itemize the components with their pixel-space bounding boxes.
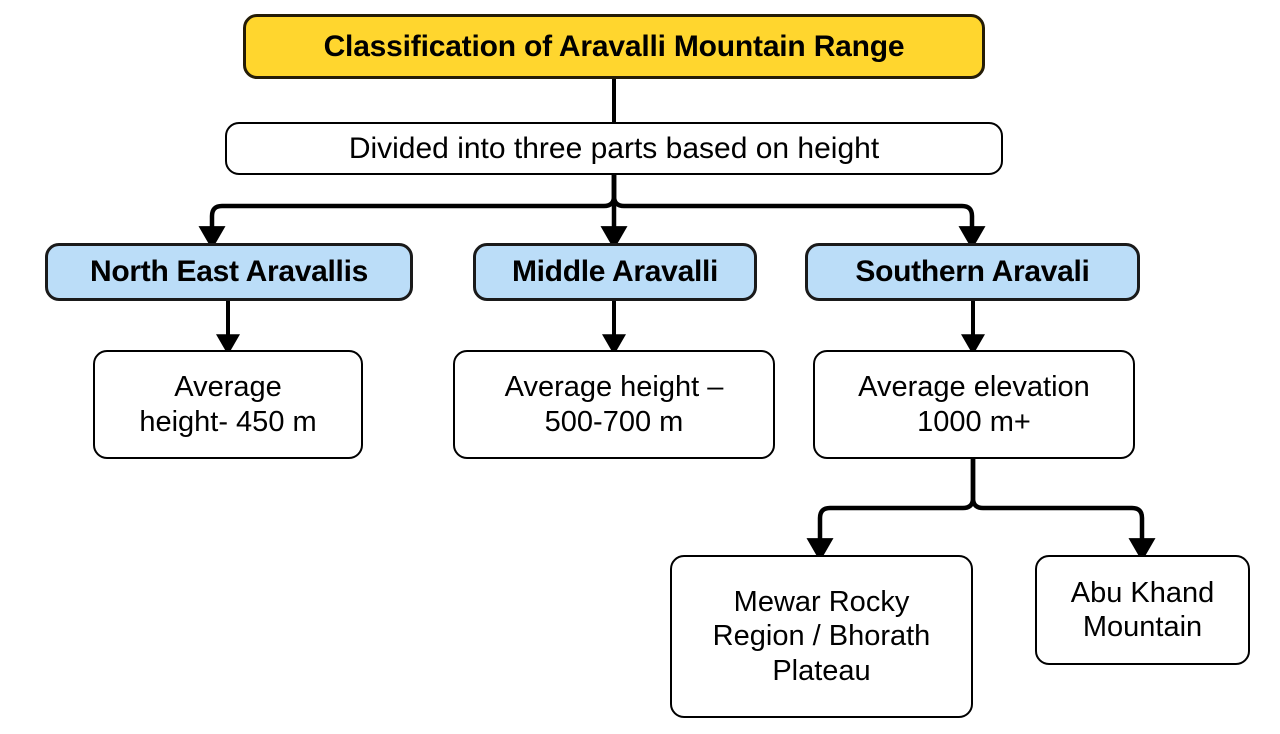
node-detail-north-east-aravallis-label: Average height- 450 m xyxy=(95,370,361,438)
node-detail-middle-aravalli-label: Average height – 500-700 m xyxy=(455,370,773,438)
node-category-middle-aravalli[interactable]: Middle Aravalli xyxy=(473,243,757,301)
node-category-north-east-aravallis[interactable]: North East Aravallis xyxy=(45,243,413,301)
edge-subtitle-to-southern xyxy=(614,174,972,236)
flowchart-canvas: Classification of Aravalli Mountain Rang… xyxy=(0,0,1280,734)
node-detail-southern-aravali-label: Average elevation 1000 m+ xyxy=(815,370,1133,438)
node-detail-north-east-aravallis[interactable]: Average height- 450 m xyxy=(93,350,363,459)
node-category-north-east-aravallis-label: North East Aravallis xyxy=(48,255,410,289)
node-abu-khand-mountain-label: Abu Khand Mountain xyxy=(1037,576,1248,644)
node-detail-middle-aravalli[interactable]: Average height – 500-700 m xyxy=(453,350,775,459)
node-subtitle-label: Divided into three parts based on height xyxy=(227,131,1001,166)
node-category-southern-aravali[interactable]: Southern Aravali xyxy=(805,243,1140,301)
edge-southern-detail-to-mewar xyxy=(820,458,973,548)
node-category-southern-aravali-label: Southern Aravali xyxy=(808,255,1137,289)
node-root-title-label: Classification of Aravalli Mountain Rang… xyxy=(246,30,982,64)
node-subtitle[interactable]: Divided into three parts based on height xyxy=(225,122,1003,175)
node-detail-southern-aravali[interactable]: Average elevation 1000 m+ xyxy=(813,350,1135,459)
edge-subtitle-to-northeast xyxy=(212,174,614,236)
node-abu-khand-mountain[interactable]: Abu Khand Mountain xyxy=(1035,555,1250,665)
node-root-title[interactable]: Classification of Aravalli Mountain Rang… xyxy=(243,14,985,79)
edge-southern-detail-to-abukhand xyxy=(973,458,1142,548)
node-category-middle-aravalli-label: Middle Aravalli xyxy=(476,255,754,289)
node-mewar-rocky-region[interactable]: Mewar Rocky Region / Bhorath Plateau xyxy=(670,555,973,718)
node-mewar-rocky-region-label: Mewar Rocky Region / Bhorath Plateau xyxy=(672,585,971,688)
